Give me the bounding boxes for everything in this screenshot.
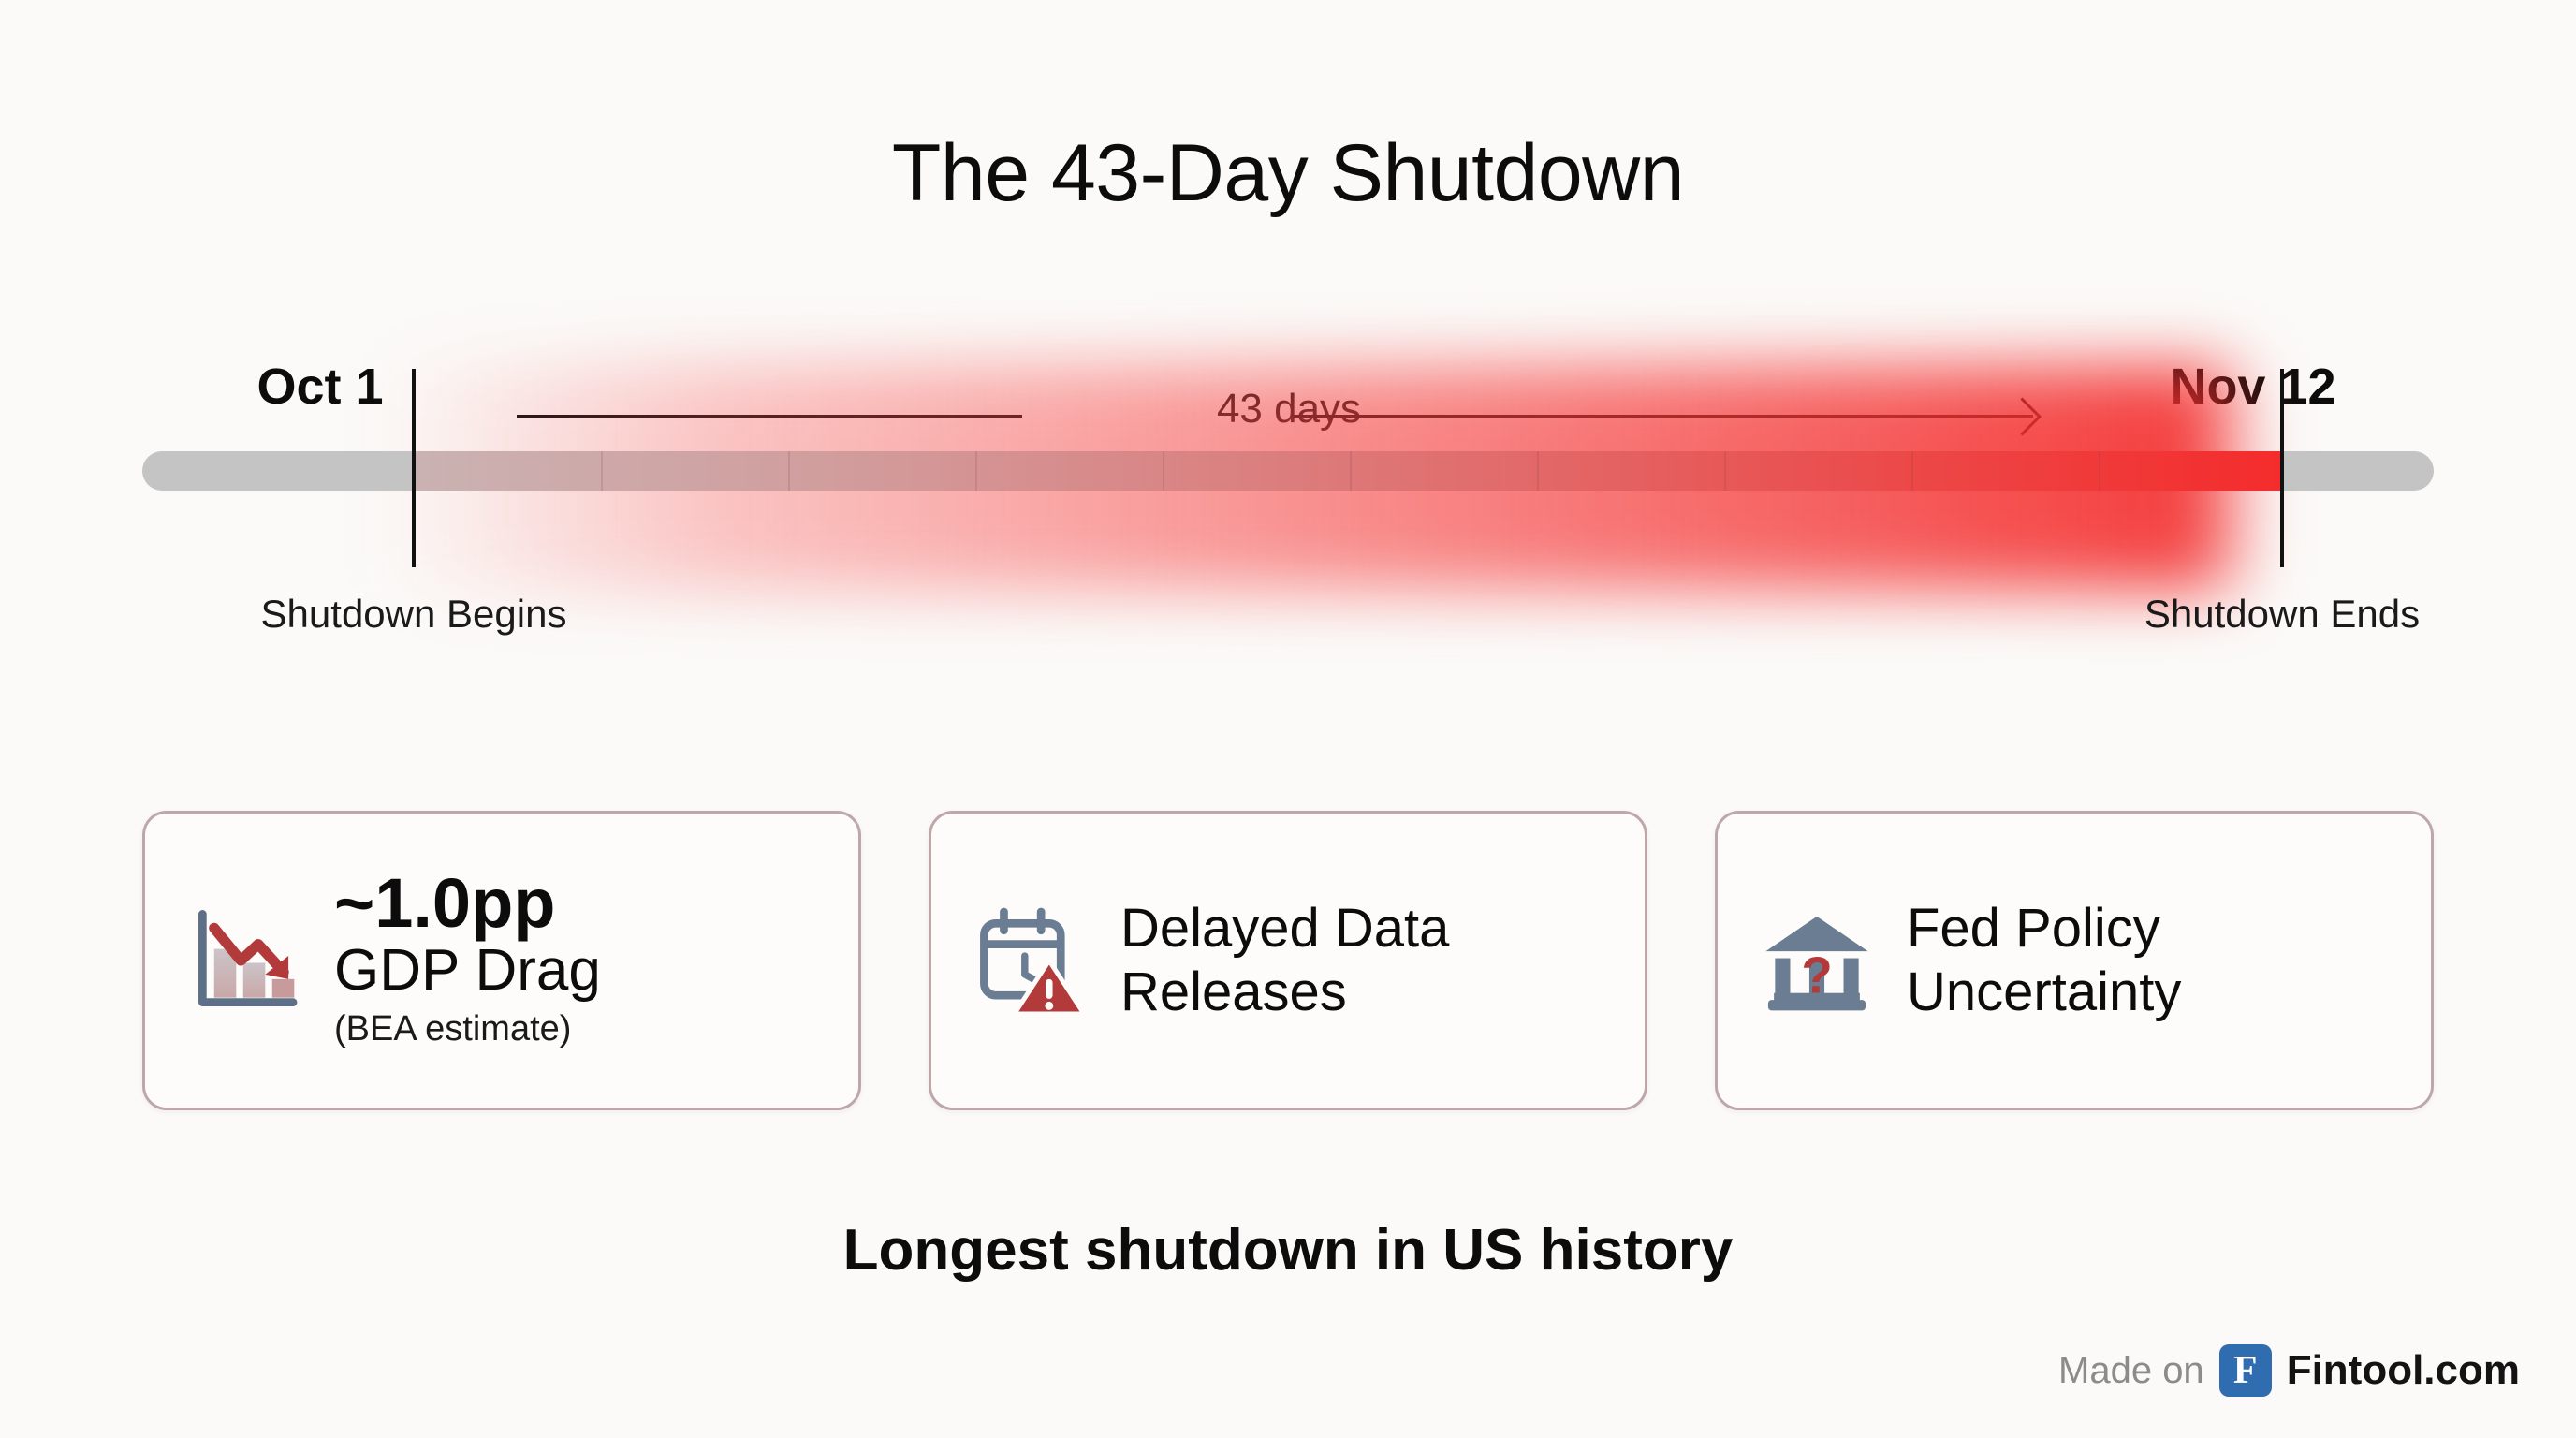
card-fed-policy[interactable]: ? Fed Policy Uncertainty: [1715, 811, 2434, 1110]
timeline-segment-divider: [1537, 451, 1539, 491]
brand-name: Fintool.com: [2287, 1347, 2520, 1394]
timeline-start-label: Oct 1: [256, 358, 383, 416]
duration-arrow: 43 days: [517, 403, 2061, 431]
gdp-drag-note: (BEA estimate): [334, 1006, 601, 1052]
timeline-end-label: Nov 12: [2170, 358, 2335, 416]
timeline-start-marker: [412, 369, 416, 567]
calendar-alert-icon: [973, 902, 1089, 1019]
card-delayed-data-title: Delayed Data Releases: [1120, 897, 1449, 1025]
card-fed-policy-title: Fed Policy Uncertainty: [1907, 897, 2181, 1025]
brand-attribution[interactable]: Made on F Fintool.com: [2058, 1341, 2520, 1401]
chart-decline-icon: [186, 902, 302, 1019]
card-gdp-drag[interactable]: ~1.0pp GDP Drag (BEA estimate): [142, 811, 861, 1110]
card-delayed-data-line1: Delayed Data: [1120, 897, 1449, 961]
timeline-segment-divider: [1350, 451, 1352, 491]
arrow-line-left: [517, 415, 1022, 418]
timeline-segment-divider: [788, 451, 790, 491]
card-fed-policy-line2: Uncertainty: [1907, 961, 2181, 1024]
duration-label: 43 days: [1153, 386, 1425, 433]
timeline-end-caption: Shutdown Ends: [2144, 592, 2420, 637]
card-delayed-data-line2: Releases: [1120, 961, 1449, 1024]
made-on-label: Made on: [2058, 1350, 2204, 1392]
timeline-segment-divider: [975, 451, 977, 491]
gdp-drag-value: ~1.0pp: [334, 868, 601, 938]
timeline-start-caption: Shutdown Begins: [261, 592, 567, 637]
infographic-canvas: The 43-Day Shutdown Oct 1 Nov 12 43 days: [0, 0, 2576, 1438]
card-gdp-text: ~1.0pp GDP Drag (BEA estimate): [334, 868, 601, 1052]
page-title: The 43-Day Shutdown: [0, 127, 2576, 220]
card-delayed-data[interactable]: Delayed Data Releases: [929, 811, 1647, 1110]
timeline-end-marker: [2280, 369, 2284, 567]
timeline-segment-divider: [1724, 451, 1726, 491]
timeline-segment-divider: [601, 451, 603, 491]
timeline-segment-divider: [1911, 451, 1913, 491]
shutdown-timeline: Oct 1 Nov 12 43 days S: [142, 346, 2434, 702]
timeline-segment-divider: [1163, 451, 1164, 491]
arrow-line-right: [1294, 415, 2033, 418]
timeline-segment-divider: [2099, 451, 2100, 491]
footer-headline: Longest shutdown in US history: [0, 1217, 2576, 1284]
svg-text:?: ?: [1801, 947, 1832, 1005]
gdp-drag-label: GDP Drag: [334, 939, 601, 1003]
timeline-bar: Shutdown Begins Shutdown Ends: [142, 451, 2434, 504]
card-fed-policy-line1: Fed Policy: [1907, 897, 2181, 961]
impact-cards: ~1.0pp GDP Drag (BEA estimate): [142, 811, 2434, 1110]
fintool-logo-icon: F: [2219, 1344, 2272, 1397]
bank-question-icon: ?: [1759, 902, 1875, 1019]
timeline-progress: [414, 451, 2284, 491]
arrow-head-icon: [2003, 397, 2042, 435]
